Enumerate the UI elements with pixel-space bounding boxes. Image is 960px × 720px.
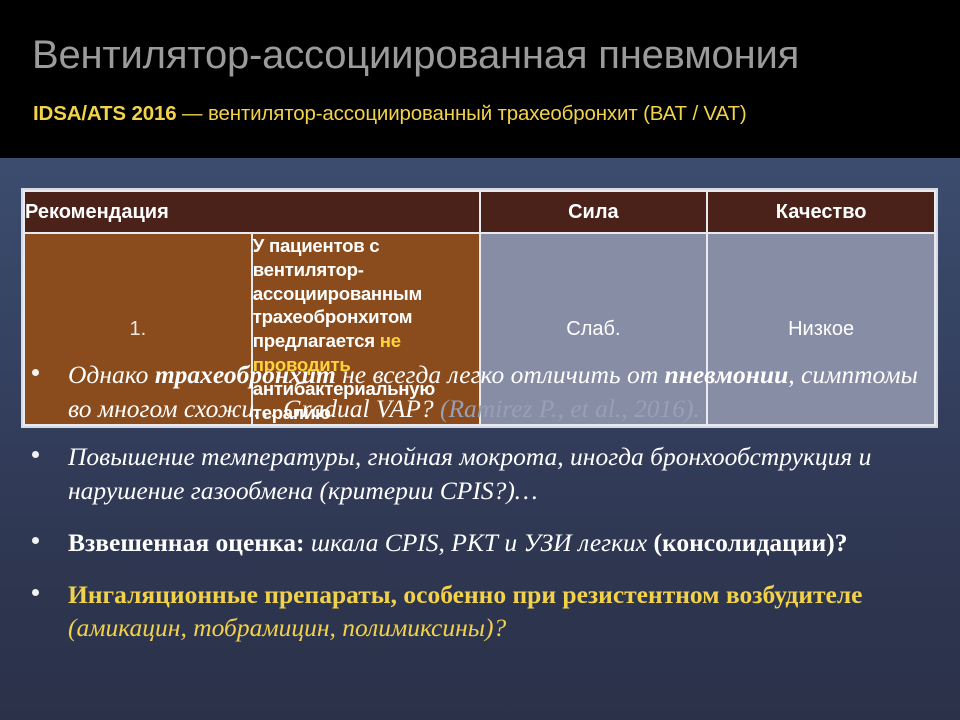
bullet1-seg-a: Однако: [68, 360, 155, 389]
column-header-quality: Качество: [707, 191, 935, 233]
bullet-dot-icon: [32, 589, 39, 596]
bullet-dot-icon: [32, 537, 39, 544]
subtitle-description: — вентилятор-ассоциированный трахеобронх…: [177, 102, 747, 125]
column-header-strength: Сила: [480, 191, 708, 233]
bullet1-seg-b: трахеобронхит: [155, 360, 336, 389]
title-band: [0, 0, 960, 158]
page-title: Вентилятор-ассоциированная пневмония: [32, 33, 799, 78]
bullet4-seg-a: Ингаляционные препараты, особенно при ре…: [68, 580, 863, 609]
list-item: Однако трахеобронхит не всегда легко отл…: [24, 358, 940, 426]
bullet-dot-icon: [32, 451, 39, 458]
bullet1-citation: (Ramirez P., et al., 2016).: [440, 394, 700, 423]
slide-canvas: Вентилятор-ассоциированная пневмония IDS…: [0, 0, 960, 720]
list-item: Взвешенная оценка: шкала CPIS, РКТ и УЗИ…: [24, 526, 940, 560]
bullet3-seg-b: шкала CPIS, РКТ и УЗИ легких: [305, 528, 654, 557]
bullet3-seg-c: (консолидации)?: [653, 528, 847, 557]
table-header-row: Рекомендация Сила Качество: [24, 191, 935, 233]
column-header-recommendation: Рекомендация: [24, 191, 480, 233]
subtitle-guideline-label: IDSA/ATS 2016: [33, 102, 177, 125]
bullet1-seg-c: не всегда легко отличить от: [336, 360, 665, 389]
list-item: Ингаляционные препараты, особенно при ре…: [24, 578, 940, 646]
slide-subtitle: IDSA/ATS 2016 — вентилятор-ассоциированн…: [33, 102, 747, 126]
bullet-list: Однако трахеобронхит не всегда легко отл…: [24, 358, 940, 659]
bullet2-text: Повышение температуры, гнойная мокрота, …: [68, 442, 871, 505]
bullet1-seg-d: пневмонии: [665, 360, 789, 389]
list-item: Повышение температуры, гнойная мокрота, …: [24, 440, 940, 508]
bullet3-seg-a: Взвешенная оценка:: [68, 528, 305, 557]
bullet-dot-icon: [32, 369, 39, 376]
bullet4-seg-b: (амикацин, тобрамицин, полимиксины)?: [68, 613, 506, 642]
